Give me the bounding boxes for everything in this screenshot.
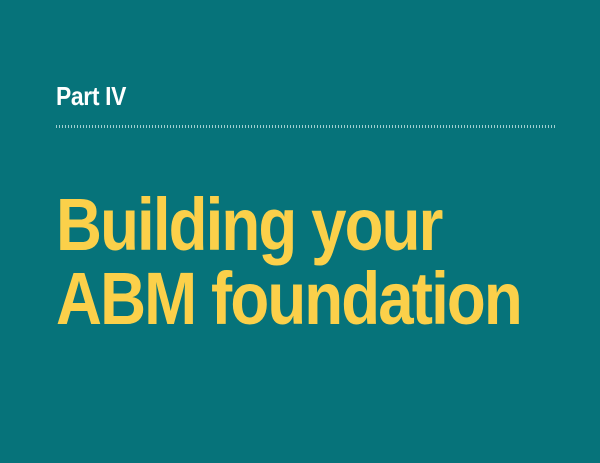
part-label: Part IV — [56, 82, 496, 110]
headline-line-2: ABM foundation — [56, 262, 512, 336]
section-divider-slide: Part IV Building your ABM foundation — [0, 0, 600, 463]
headline-line-1: Building your — [56, 188, 512, 262]
part-label-group: Part IV — [56, 82, 556, 112]
dotted-divider — [56, 125, 555, 128]
headline-group: Building your ABM foundation — [56, 188, 586, 336]
